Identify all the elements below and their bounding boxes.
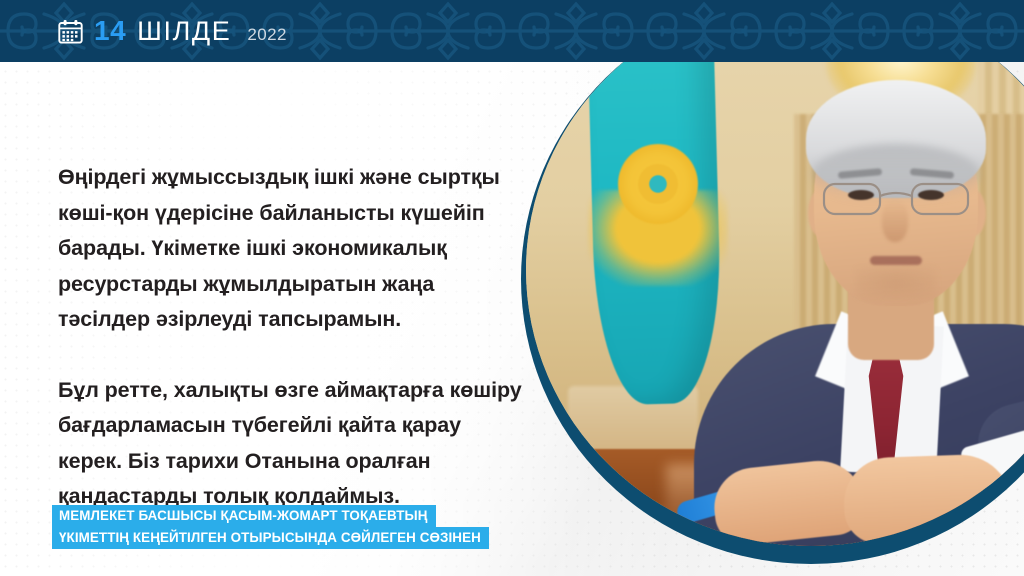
quote-text: Өңірдегі жұмыссыздық ішкі және сыртқы кө… xyxy=(58,160,528,515)
photo-flag-sun-core xyxy=(638,164,678,204)
photo-nose xyxy=(882,200,908,242)
date-header-bar: 14 ШІЛДЕ 2022 xyxy=(0,0,1024,62)
date-month: ШІЛДЕ xyxy=(137,18,231,45)
source-caption: МЕМЛЕКЕТ БАСШЫСЫ ҚАСЫМ-ЖОМАРТ ТОҚАЕВТЫҢ … xyxy=(52,505,489,549)
quote-paragraph-2: Бұл ретте, халықты өзге аймақтарға көшір… xyxy=(58,373,528,515)
slide-root: 14 ШІЛДЕ 2022 Өңірдегі жұмыссыздық ішкі … xyxy=(0,0,1024,576)
date-year: 2022 xyxy=(247,26,286,43)
calendar-icon xyxy=(58,19,83,44)
photo-hand-right xyxy=(843,453,1014,545)
portrait-photo xyxy=(521,0,1024,564)
date-day: 14 xyxy=(94,17,126,45)
quote-paragraph-1: Өңірдегі жұмыссыздық ішкі және сыртқы кө… xyxy=(58,160,528,338)
photo-mouth xyxy=(870,256,922,265)
photo-chin-shadow xyxy=(856,266,936,300)
date-header-content: 14 ШІЛДЕ 2022 xyxy=(0,0,1024,62)
caption-line-1: МЕМЛЕКЕТ БАСШЫСЫ ҚАСЫМ-ЖОМАРТ ТОҚАЕВТЫҢ xyxy=(52,505,436,527)
caption-line-2: ҮКІМЕТТІҢ КЕҢЕЙТІЛГЕН ОТЫРЫСЫНДА СӨЙЛЕГЕ… xyxy=(52,527,489,549)
portrait-image xyxy=(526,0,1024,546)
